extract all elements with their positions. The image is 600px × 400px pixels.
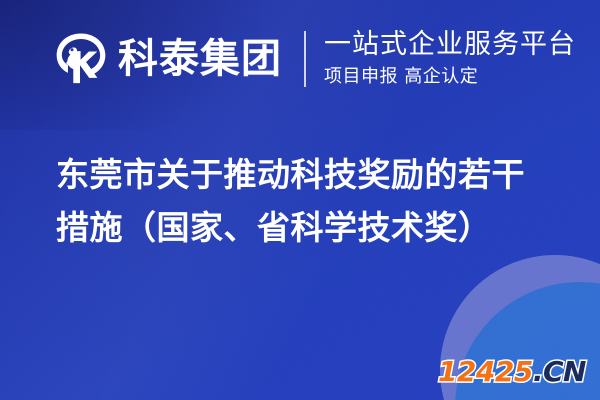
page-title: 东莞市关于推动科技奖励的若干 措施（国家、省科学技术奖） <box>56 148 526 255</box>
site-watermark: 12425.CN <box>438 358 586 386</box>
watermark-tld: .CN <box>533 355 586 388</box>
poster-canvas: 科泰集团 一站式企业服务平台 项目申报 高企认定 东莞市关于推动科技奖励的若干 … <box>0 0 600 400</box>
slogan-sub: 项目申报 高企认定 <box>324 64 576 89</box>
watermark-number: 12425 <box>438 355 533 388</box>
brand-divider <box>304 31 306 87</box>
brand-bar: 科泰集团 一站式企业服务平台 项目申报 高企认定 <box>52 22 576 96</box>
slogan-main: 一站式企业服务平台 <box>324 29 576 60</box>
ketai-logo-icon <box>52 30 110 88</box>
page-title-line-1: 东莞市关于推动科技奖励的若干 <box>56 148 526 201</box>
page-title-line-2: 措施（国家、省科学技术奖） <box>56 201 526 254</box>
slogan-block: 一站式企业服务平台 项目申报 高企认定 <box>324 29 576 89</box>
brand-name: 科泰集团 <box>118 39 282 79</box>
